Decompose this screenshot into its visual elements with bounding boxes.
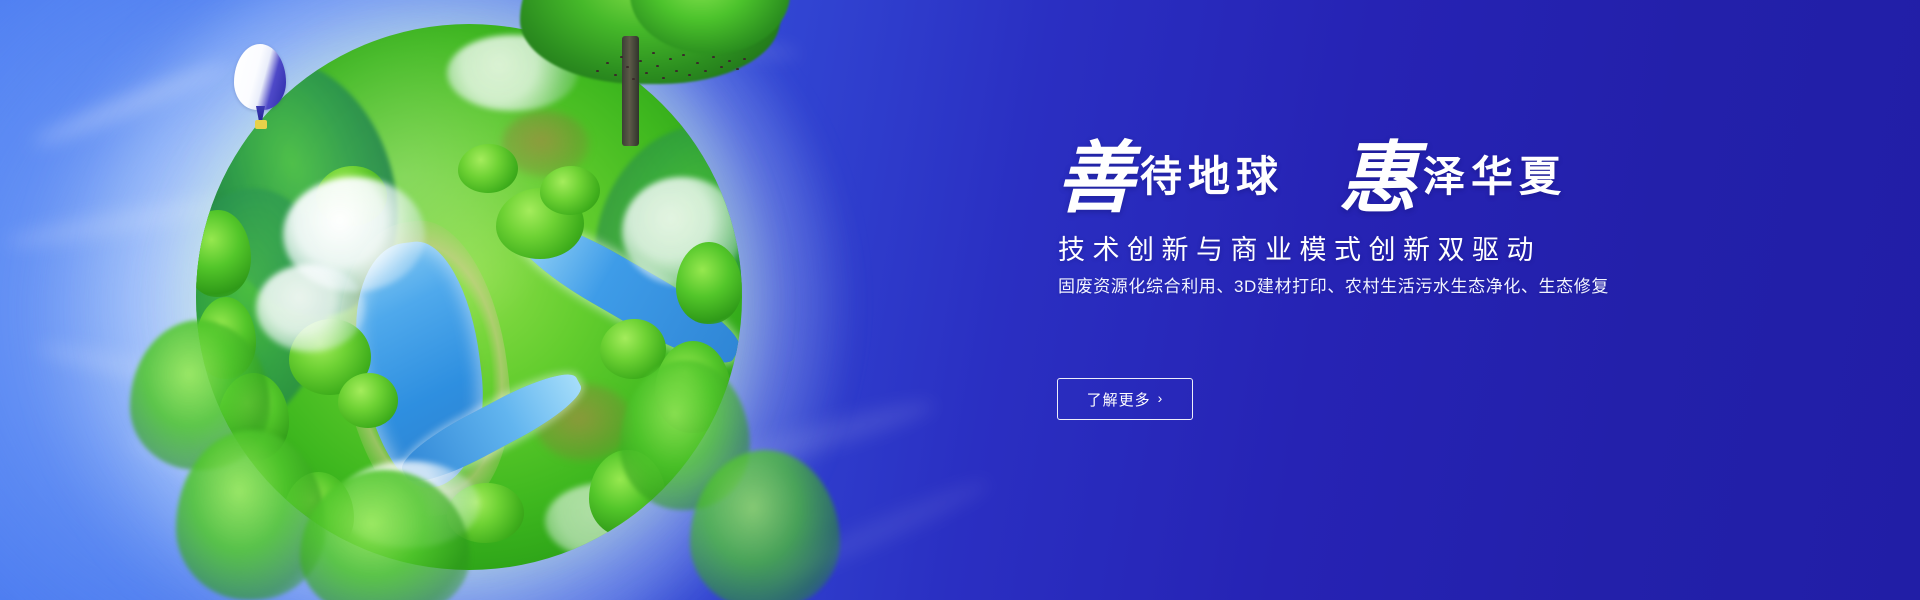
- headline-phrase-2-rest: 泽华夏: [1423, 155, 1567, 201]
- bird-icon: [632, 78, 635, 80]
- forest-cluster: [338, 373, 398, 428]
- rim-tree: [676, 242, 742, 324]
- bird-icon: [682, 54, 685, 56]
- forest-cluster: [458, 144, 518, 193]
- headline-phrase-1-rest: 待地球: [1140, 155, 1284, 201]
- bird-icon: [669, 58, 672, 60]
- headline-phrase-1: 善待地球: [1056, 140, 1284, 218]
- bird-icon: [720, 66, 723, 68]
- bird-icon: [614, 74, 617, 76]
- headline-phrase-1-lead: 善: [1056, 135, 1134, 222]
- chevron-right-icon: ›: [1158, 391, 1164, 405]
- bird-icon: [736, 68, 739, 70]
- bird-icon: [652, 52, 655, 54]
- bird-icon: [596, 70, 599, 72]
- bird-icon: [639, 60, 642, 62]
- bird-icon: [704, 70, 707, 72]
- hero-headline: 善待地球 惠泽华夏: [1056, 140, 1876, 218]
- bird-icon: [743, 58, 746, 60]
- balloon-neck: [256, 106, 265, 120]
- bird-icon: [712, 56, 715, 58]
- forest-cluster: [540, 166, 600, 215]
- bird-icon: [688, 74, 691, 76]
- hero-subtitle: 技术创新与商业模式创新双驱动: [1058, 228, 1541, 267]
- hot-air-balloon: [234, 44, 286, 142]
- bird-icon: [728, 60, 731, 62]
- hero-tagline: 固废资源化综合利用、3D建材打印、农村生活污水生态净化、生态修复: [1058, 272, 1609, 297]
- bird-icon: [696, 62, 699, 64]
- bird-icon: [606, 62, 609, 64]
- learn-more-label: 了解更多: [1087, 389, 1151, 410]
- bird-icon: [662, 77, 665, 79]
- hero-banner: 善待地球 惠泽华夏 技术创新与商业模式创新双驱动 固废资源化综合利用、3D建材打…: [0, 0, 1920, 600]
- balloon-envelope: [234, 44, 286, 110]
- bird-icon: [645, 72, 648, 74]
- learn-more-button[interactable]: 了解更多 ›: [1057, 378, 1193, 420]
- bird-icon: [656, 65, 659, 67]
- bird-icon: [626, 66, 629, 68]
- bird-icon: [620, 56, 623, 58]
- bird-flock: [592, 44, 752, 94]
- headline-phrase-2: 惠泽华夏: [1339, 140, 1567, 218]
- headline-phrase-2-lead: 惠: [1339, 135, 1417, 222]
- bird-icon: [675, 70, 678, 72]
- hero-content: 善待地球 惠泽华夏 技术创新与商业模式创新双驱动 固废资源化综合利用、3D建材打…: [1056, 0, 1876, 600]
- balloon-basket: [255, 120, 267, 129]
- cloud-over-globe: [256, 264, 365, 351]
